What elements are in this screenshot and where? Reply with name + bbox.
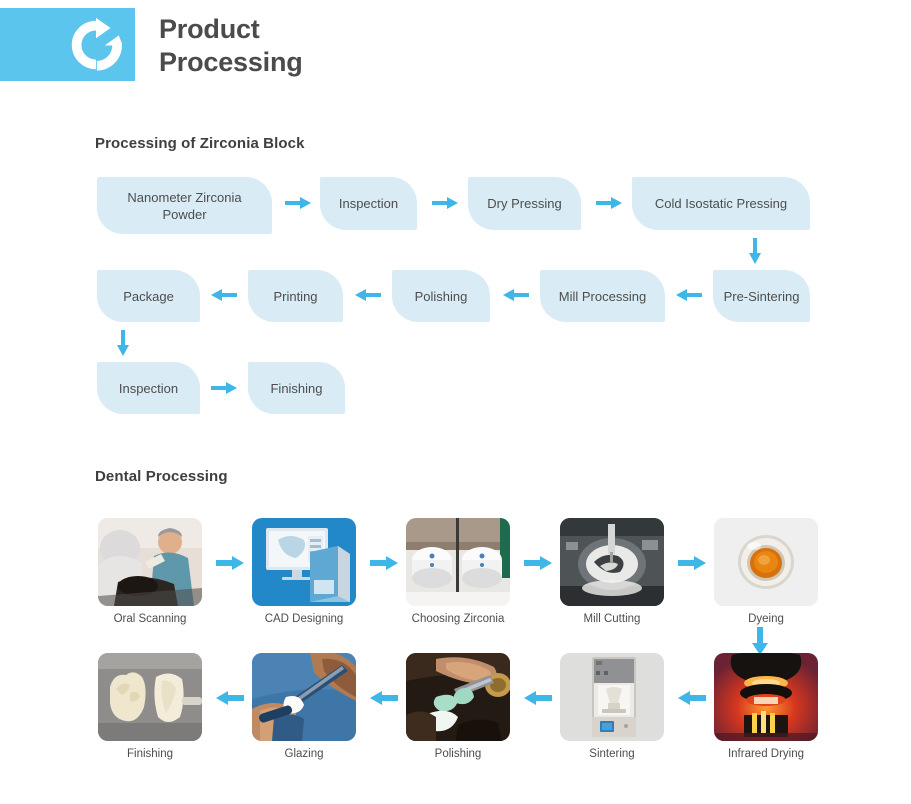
arrow-left-icon [355, 288, 381, 302]
dental-step-infrared-drying[interactable]: Infrared Drying [714, 653, 818, 760]
dental-step-oral-scanning[interactable]: Oral Scanning [98, 518, 202, 625]
arrow-left-icon [370, 690, 398, 706]
dental-step-polishing[interactable]: Polishing [406, 653, 510, 760]
infrared-heater-glowing-photo [714, 653, 818, 741]
dental-step-caption: Glazing [252, 748, 356, 760]
dental-step-caption: Finishing [98, 748, 202, 760]
zirconia-discs-in-box-photo [406, 518, 510, 606]
flow-step-dry-pressing[interactable]: Dry Pressing [468, 177, 581, 230]
amber-dye-dish-photo [714, 518, 818, 606]
arrow-right-icon [432, 196, 458, 210]
flow-step-inspection-2[interactable]: Inspection [97, 362, 200, 414]
flow-step-label: Polishing [415, 288, 468, 305]
arrow-left-icon [503, 288, 529, 302]
flow-step-package[interactable]: Package [97, 270, 200, 322]
milling-machine-chamber-photo [560, 518, 664, 606]
logo-plate [0, 8, 135, 81]
arrow-right-icon [285, 196, 311, 210]
page-header: Product Processing [0, 8, 911, 84]
flow-step-label: Printing [273, 288, 317, 305]
dental-step-glazing[interactable]: Glazing [252, 653, 356, 760]
arrow-down-icon [752, 627, 768, 655]
flow-step-label: Mill Processing [559, 288, 646, 305]
flow-step-pre-sintering[interactable]: Pre-Sintering [713, 270, 810, 322]
dental-step-caption: Dyeing [714, 613, 818, 625]
sintering-furnace-photo [560, 653, 664, 741]
flow-step-label: Dry Pressing [487, 195, 561, 212]
dentist-scanning-patient-photo [98, 518, 202, 606]
flow-step-label: Finishing [270, 380, 322, 397]
flow-step-cold-isostatic-pressing[interactable]: Cold Isostatic Pressing [632, 177, 810, 230]
arrow-down-icon [748, 238, 762, 264]
flow-step-label: Pre-Sintering [724, 288, 800, 305]
arrow-right-icon [596, 196, 622, 210]
dental-step-caption: Mill Cutting [560, 613, 664, 625]
arrow-down-icon [116, 330, 130, 356]
flow-step-label: Cold Isostatic Pressing [655, 195, 787, 212]
arrow-left-icon [678, 690, 706, 706]
arrow-right-icon [211, 381, 237, 395]
flow-step-label: Inspection [119, 380, 178, 397]
flow-step-label: Nanometer Zirconia Powder [105, 189, 264, 223]
cad-monitor-scanner-photo [252, 518, 356, 606]
arrow-right-icon [216, 555, 244, 571]
glazing-brush-on-crown-photo [252, 653, 356, 741]
circular-arrow-refresh-icon [65, 14, 127, 76]
flow-step-inspection-1[interactable]: Inspection [320, 177, 417, 230]
flow-step-finishing[interactable]: Finishing [248, 362, 345, 414]
dental-step-sintering[interactable]: Sintering [560, 653, 664, 760]
arrow-left-icon [524, 690, 552, 706]
page-title-line2: Processing [159, 46, 303, 79]
section-heading-dental: Dental Processing [95, 468, 228, 485]
dental-step-choosing-zirconia[interactable]: Choosing Zirconia [406, 518, 510, 625]
flow-step-label: Package [123, 288, 174, 305]
arrow-left-icon [211, 288, 237, 302]
dental-step-caption: Choosing Zirconia [406, 613, 510, 625]
flow-step-mill-processing[interactable]: Mill Processing [540, 270, 665, 322]
page-title: Product Processing [159, 13, 303, 79]
dental-step-caption: Oral Scanning [98, 613, 202, 625]
section-heading-zirconia: Processing of Zirconia Block [95, 135, 305, 152]
dental-step-caption: Infrared Drying [714, 748, 818, 760]
dental-step-dyeing[interactable]: Dyeing [714, 518, 818, 625]
flow-step-polishing[interactable]: Polishing [392, 270, 490, 322]
flow-step-printing[interactable]: Printing [248, 270, 343, 322]
arrow-right-icon [678, 555, 706, 571]
page-title-line1: Product [159, 13, 303, 46]
flow-step-nanometer-zirconia-powder[interactable]: Nanometer Zirconia Powder [97, 177, 272, 234]
dental-step-caption: Polishing [406, 748, 510, 760]
dental-step-finishing[interactable]: Finishing [98, 653, 202, 760]
dental-step-caption: Sintering [560, 748, 664, 760]
arrow-left-icon [216, 690, 244, 706]
arrow-left-icon [676, 288, 702, 302]
flow-step-label: Inspection [339, 195, 398, 212]
dental-step-cad-designing[interactable]: CAD Designing [252, 518, 356, 625]
two-finished-crowns-photo [98, 653, 202, 741]
dental-step-caption: CAD Designing [252, 613, 356, 625]
dental-step-mill-cutting[interactable]: Mill Cutting [560, 518, 664, 625]
polishing-handpiece-on-crown-photo [406, 653, 510, 741]
arrow-right-icon [370, 555, 398, 571]
arrow-right-icon [524, 555, 552, 571]
